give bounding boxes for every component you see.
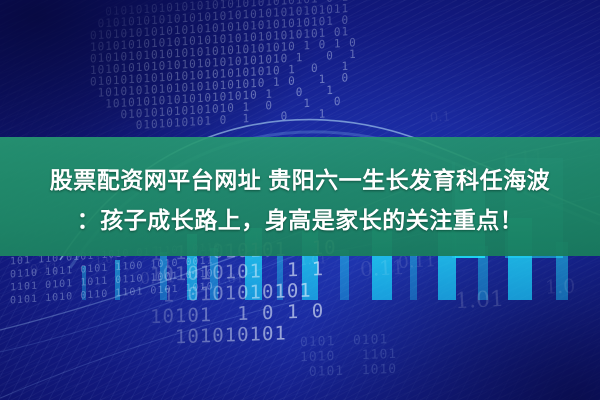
numeric-label: 0.11 [140, 267, 177, 288]
numeric-label: 0.1 [430, 109, 452, 125]
banner-image: 0101010101010101010101010101 0 1 0101010… [0, 0, 600, 400]
headline-line-2: ：孩子成长路上，身高是家长的关注重点！ [0, 200, 600, 240]
numeric-label: 1.01 [454, 287, 504, 315]
numeric-label: 0.11 [30, 261, 60, 278]
numeric-label: 1.01 [215, 271, 245, 287]
headline-line-1: 股票配资网平台网址 贵阳六一生长发育科任海波 [0, 160, 600, 200]
numeric-label: 0.11 [359, 255, 405, 281]
banner-headline: 股票配资网平台网址 贵阳六一生长发育科任海波 ：孩子成长路上，身高是家长的关注重… [0, 160, 600, 240]
numeric-label: 1.0 [544, 275, 575, 299]
